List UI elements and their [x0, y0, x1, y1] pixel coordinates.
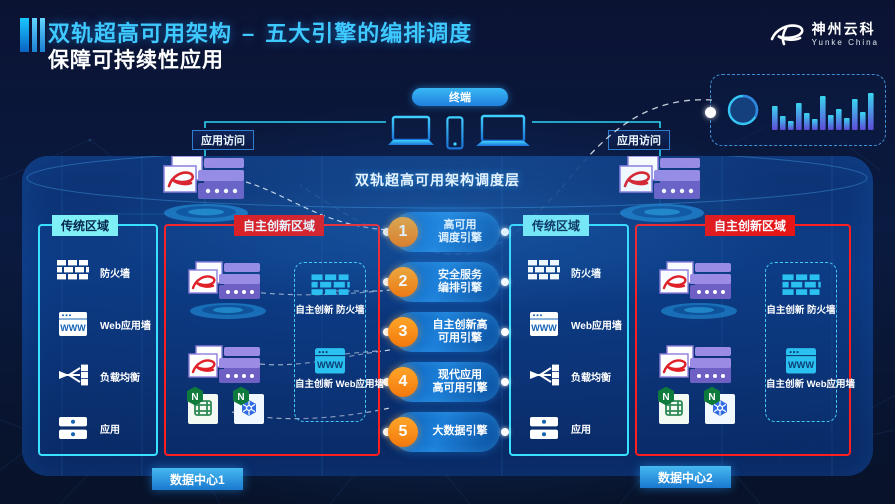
- application-server-icon: [56, 414, 90, 442]
- engine-item-1[interactable]: 1 高可用 调度引擎: [392, 212, 500, 252]
- dc1-inno-server-stack-2: [184, 344, 272, 390]
- dc2-inner-item-waf[interactable]: WWW 自主创新 Web应用墙: [766, 347, 836, 391]
- nginx-icon: N: [232, 386, 250, 406]
- svg-text:N: N: [237, 392, 244, 403]
- server-stack-icon: [184, 344, 272, 390]
- engine-number: 1: [388, 217, 418, 247]
- server-stack-icon: [655, 260, 743, 306]
- load-balancer-icon: [56, 362, 90, 390]
- firewall-brick-icon: [527, 258, 561, 286]
- dc2-trad-item-label: 防火墙: [571, 265, 601, 280]
- engine-number: 3: [388, 317, 418, 347]
- application-server-icon: [527, 414, 561, 442]
- engine-item-4[interactable]: 4 现代应用 高可用引擎: [392, 362, 500, 402]
- dc2-platform-icons: N N: [659, 392, 735, 424]
- datacenter-label-2: 数据中心2: [640, 466, 731, 488]
- access-label-right: 应用访问: [608, 130, 670, 150]
- monitor-connector-dot: [705, 107, 716, 118]
- header-accent-bars-icon: [20, 18, 45, 52]
- svg-text:N: N: [662, 392, 669, 403]
- dc1-inner-dashed-box: 自主创新 防火墙 WWW 自主创新 Web应用墙: [294, 262, 366, 422]
- podium-icon: [186, 301, 270, 321]
- server-stack-icon: [655, 344, 743, 390]
- dc2-inno-server-stack-1: [655, 260, 743, 321]
- dc1-trad-item-lb[interactable]: 负载均衡: [56, 362, 140, 390]
- donut-chart-icon: [725, 92, 761, 128]
- engine-number: 2: [388, 267, 418, 297]
- dc1-traditional-zone: 传统区域 防火墙 WWW: [38, 224, 158, 456]
- terminal-devices: [386, 110, 532, 150]
- engine-label: 大数据引擎: [424, 425, 496, 438]
- dc2-inno-server-stack-2: [655, 344, 743, 390]
- dc1-trad-item-label: 负载均衡: [100, 369, 140, 384]
- dc1-inner-item-label: 自主创新 防火墙: [295, 305, 365, 317]
- dc1-trad-item-label: 应用: [100, 421, 120, 436]
- load-balancer-icon: [527, 362, 561, 390]
- dc2-inner-item-label: 自主创新 Web应用墙: [766, 379, 836, 391]
- podium-icon: [616, 202, 708, 224]
- dc2-trad-item-firewall[interactable]: 防火墙: [527, 258, 601, 286]
- dc1-inner-item-waf[interactable]: WWW 自主创新 Web应用墙: [295, 347, 365, 391]
- podium-icon: [657, 301, 741, 321]
- access-label-left: 应用访问: [192, 130, 254, 150]
- firewall-brick-icon: [309, 273, 351, 303]
- engine-label: 安全服务 编排引擎: [424, 269, 496, 295]
- nginx-icon: N: [657, 386, 675, 406]
- laptop-icon: [474, 114, 532, 150]
- engine-list: 1 高可用 调度引擎 2 安全服务 编排引擎 3 自主创新高 可用引擎 4 现代…: [392, 212, 500, 462]
- dc2-trad-item-label: 应用: [571, 421, 591, 436]
- svg-text:N: N: [708, 392, 715, 403]
- logo-name-en: Yunke China: [812, 39, 879, 47]
- dc1-k8s-group[interactable]: N: [234, 392, 264, 424]
- dc1-trad-item-waf[interactable]: WWW Web应用墙: [56, 310, 151, 338]
- title-dash: –: [232, 21, 265, 46]
- svg-text:WWW: WWW: [60, 323, 86, 333]
- dc1-inner-item-firewall[interactable]: 自主创新 防火墙: [295, 273, 365, 317]
- engine-item-2[interactable]: 2 安全服务 编排引擎: [392, 262, 500, 302]
- nginx-icon: N: [186, 386, 204, 406]
- dc1-innovation-zone: 自主创新区域: [164, 224, 380, 456]
- monitor-panel[interactable]: [710, 74, 886, 146]
- engine-connector-dot-right: [501, 378, 509, 386]
- dc2-traditional-zone-tag: 传统区域: [523, 215, 589, 236]
- dc2-trad-item-app[interactable]: 应用: [527, 414, 591, 442]
- engine-label: 高可用 调度引擎: [424, 219, 496, 245]
- engine-item-5[interactable]: 5 大数据引擎: [392, 412, 500, 452]
- engine-connector-dot-right: [501, 228, 509, 236]
- svg-text:WWW: WWW: [788, 360, 814, 370]
- engine-connector-dot-right: [501, 328, 509, 336]
- dc1-trad-item-firewall[interactable]: 防火墙: [56, 258, 130, 286]
- firewall-brick-icon: [56, 258, 90, 286]
- dc1-innovation-zone-tag: 自主创新区域: [234, 215, 324, 236]
- title-main: 双轨超高可用架构: [48, 21, 232, 46]
- dc1-traditional-zone-tag: 传统区域: [52, 215, 118, 236]
- dc2-inner-dashed-box: 自主创新 防火墙 WWW 自主创新 Web应用墙: [765, 262, 837, 422]
- dc1-trad-item-label: 防火墙: [100, 265, 130, 280]
- dc1-trad-item-label: Web应用墙: [100, 317, 151, 332]
- phone-icon: [446, 116, 464, 150]
- nginx-icon: N: [703, 386, 721, 406]
- scheduling-layer-title: 双轨超高可用架构调度层: [355, 170, 520, 190]
- dc1-platform-icons: N N: [188, 392, 264, 424]
- bar-chart-icon: [771, 90, 879, 130]
- dc2-top-server-stack: [614, 156, 710, 224]
- server-stack-icon: [158, 156, 254, 208]
- dc1-top-server-stack: [158, 156, 254, 224]
- engine-connector-dot-right: [501, 428, 509, 436]
- dc2-innovation-zone: 自主创新区域: [635, 224, 851, 456]
- web-window-www-icon: WWW: [312, 347, 348, 377]
- server-stack-icon: [614, 156, 710, 208]
- laptop-icon: [386, 114, 436, 150]
- dc2-trad-item-lb[interactable]: 负载均衡: [527, 362, 611, 390]
- server-stack-icon: [184, 260, 272, 306]
- dc2-traditional-zone: 传统区域 防火墙 WWW Web应用墙: [509, 224, 629, 456]
- dc2-trad-item-label: Web应用墙: [571, 317, 622, 332]
- engine-number: 4: [388, 367, 418, 397]
- architecture-panel: 双轨超高可用架构调度层: [22, 156, 873, 476]
- header: 双轨超高可用架构–五大引擎的编排调度 保障可持续性应用 神州云科 Yunke C…: [0, 0, 895, 72]
- swoosh-logo-icon: [770, 22, 804, 48]
- engine-label: 现代应用 高可用引擎: [424, 369, 496, 395]
- dc2-innovation-zone-tag: 自主创新区域: [705, 215, 795, 236]
- svg-text:N: N: [191, 392, 198, 403]
- svg-text:WWW: WWW: [531, 323, 557, 333]
- terminal-label: 终端: [412, 88, 508, 106]
- engine-label: 自主创新高 可用引擎: [424, 319, 496, 345]
- dc2-trad-item-label: 负载均衡: [571, 369, 611, 384]
- dc1-nginx-group-1[interactable]: N: [188, 392, 218, 424]
- title-sub: 五大引擎的编排调度: [265, 21, 472, 46]
- slide-root: 双轨超高可用架构–五大引擎的编排调度 保障可持续性应用 神州云科 Yunke C…: [0, 0, 895, 504]
- page-subtitle: 保障可持续性应用: [48, 44, 224, 74]
- brand-logo: 神州云科 Yunke China: [770, 22, 879, 48]
- dc2-nginx-group-1[interactable]: N: [659, 392, 689, 424]
- web-window-www-icon: WWW: [56, 310, 90, 338]
- firewall-brick-icon: [780, 273, 822, 303]
- engine-number: 5: [388, 417, 418, 447]
- svg-text:WWW: WWW: [317, 360, 343, 370]
- engine-item-3[interactable]: 3 自主创新高 可用引擎: [392, 312, 500, 352]
- dc1-trad-item-app[interactable]: 应用: [56, 414, 120, 442]
- dc2-k8s-group[interactable]: N: [705, 392, 735, 424]
- dc1-inner-item-label: 自主创新 Web应用墙: [295, 379, 365, 391]
- engine-connector-dot-right: [501, 278, 509, 286]
- web-window-www-icon: WWW: [527, 310, 561, 338]
- dc2-trad-item-waf[interactable]: WWW Web应用墙: [527, 310, 622, 338]
- datacenter-label-1: 数据中心1: [152, 468, 243, 490]
- dc1-inno-server-stack-1: [184, 260, 272, 321]
- terminal-group: 终端: [386, 88, 532, 150]
- dc2-inner-item-label: 自主创新 防火墙: [766, 305, 836, 317]
- logo-name-cn: 神州云科: [812, 22, 879, 37]
- web-window-www-icon: WWW: [783, 347, 819, 377]
- dc2-inner-item-firewall[interactable]: 自主创新 防火墙: [766, 273, 836, 317]
